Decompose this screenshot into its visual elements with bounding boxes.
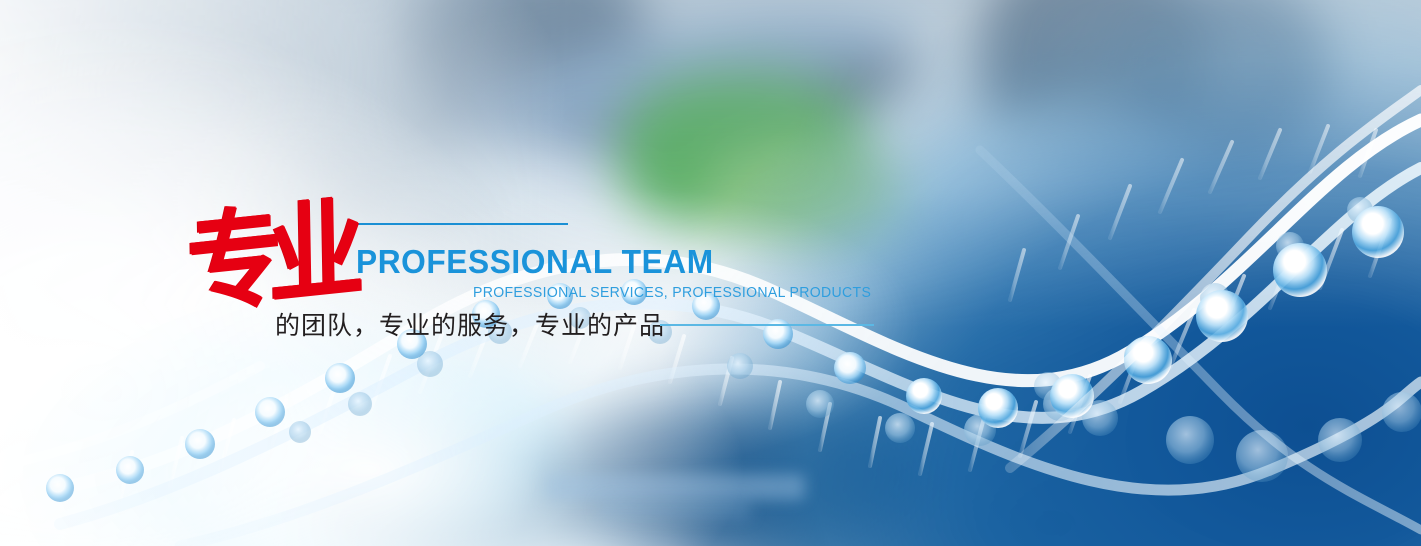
banner-headline: PROFESSIONAL TEAM	[356, 243, 714, 281]
banner-subheadline: PROFESSIONAL SERVICES, PROFESSIONAL PROD…	[473, 285, 871, 301]
rule-bottom-divider	[660, 324, 874, 326]
hero-banner: 专业 PROFESSIONAL TEAM PROFESSIONAL SERVIC…	[0, 0, 1421, 546]
rule-top-divider	[356, 223, 568, 225]
banner-text-block: 专业 PROFESSIONAL TEAM PROFESSIONAL SERVIC…	[0, 0, 1421, 546]
banner-chinese-tagline: 的团队，专业的服务，专业的产品	[275, 306, 665, 342]
